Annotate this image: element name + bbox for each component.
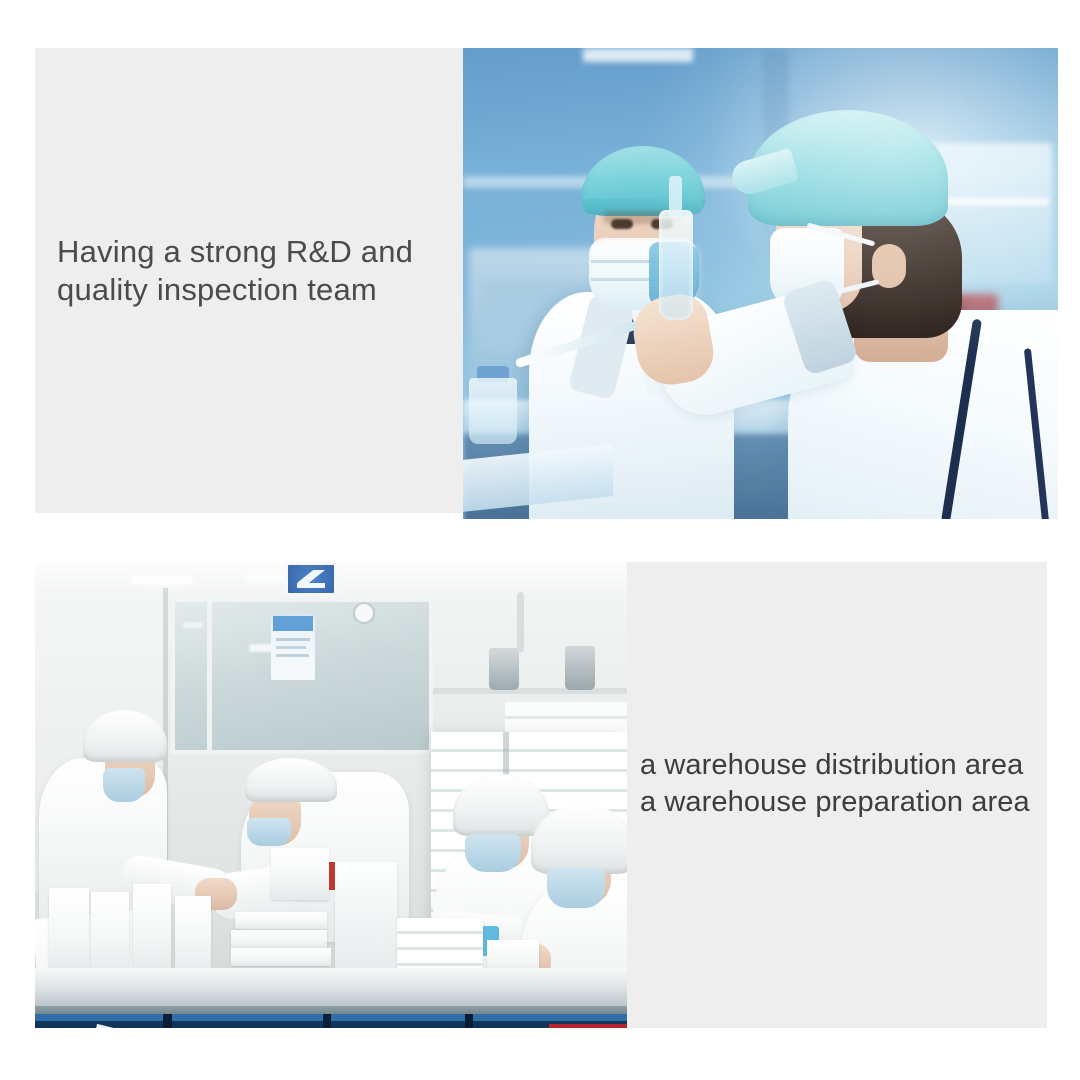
carton-column-four [175, 896, 211, 974]
table-leg-three [465, 1014, 473, 1028]
reagent-bottle [469, 378, 517, 444]
worker-two-face-mask [247, 818, 291, 846]
ceiling-lamp-two [245, 574, 285, 582]
warehouse-caption: a warehouse distribution area a warehous… [640, 747, 1050, 821]
worker-one-face-mask [103, 768, 145, 802]
lab-ceiling-light [583, 48, 693, 62]
notice-line-three [276, 654, 309, 657]
page-root: Having a strong R&D and quality inspecti… [0, 0, 1080, 1080]
notice-line-two [276, 646, 306, 649]
carton-column-two [91, 892, 129, 974]
warehouse-packing-photo [35, 562, 627, 1028]
carton-flat-upper [235, 912, 327, 929]
red-floor-bin [549, 1024, 627, 1028]
carton-flat-lower [231, 948, 331, 966]
carton-upper-center [271, 848, 329, 900]
carton-column-three [133, 884, 171, 974]
carton-group-right [397, 918, 483, 974]
table-frame-rail [35, 1014, 627, 1021]
rnd-photo-scene [463, 48, 1058, 519]
wall-clock-icon [353, 602, 375, 624]
warehouse-panel: a warehouse distribution area a warehous… [35, 562, 1047, 1028]
worker-four-face-mask [547, 868, 605, 908]
carton-tall-center [335, 862, 397, 974]
window-mullion [207, 598, 212, 754]
carton-flat-middle [231, 930, 327, 948]
warehouse-photo-scene [35, 562, 627, 1028]
technician-one-eye-left [611, 219, 633, 229]
glass-vial [659, 210, 693, 320]
rnd-quality-caption: Having a strong R&D and quality inspecti… [57, 233, 452, 309]
carton-column-one [49, 888, 89, 974]
stainless-container-one [489, 648, 519, 690]
glass-vial-neck [669, 176, 682, 218]
notice-header [273, 616, 313, 631]
rnd-quality-inspection-photo [463, 48, 1058, 519]
rnd-quality-panel: Having a strong R&D and quality inspecti… [35, 48, 1058, 519]
table-leg-one [163, 1014, 172, 1028]
table-leg-two [323, 1014, 331, 1028]
stainless-container-two [565, 646, 595, 690]
ceiling-hose [517, 592, 524, 652]
window-interior-lamp-secondary [183, 622, 203, 628]
ceiling-lamp-one [131, 576, 193, 585]
back-wall-shelf [433, 688, 627, 694]
worker-three-face-mask [465, 834, 521, 872]
notice-line-one [276, 638, 310, 641]
